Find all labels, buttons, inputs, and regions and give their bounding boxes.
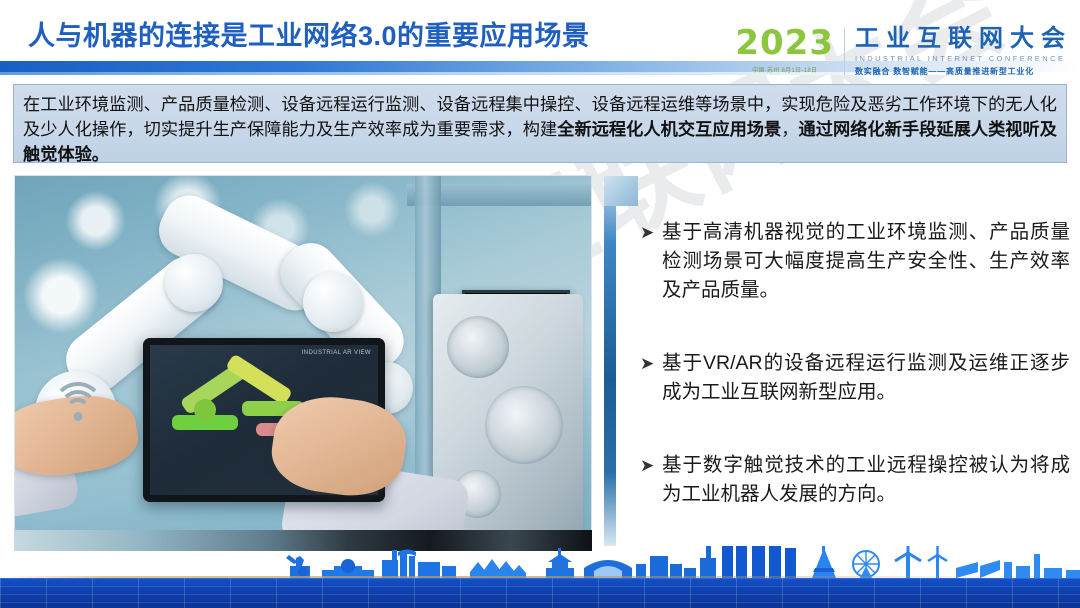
- footer-grid-overlay: [0, 578, 1080, 608]
- logo-name-en: INDUSTRIAL INTERNET CONFERENCE: [855, 54, 1072, 63]
- robot-arm-joint-elbow: [165, 254, 223, 312]
- vertical-accent-cap: [604, 176, 638, 206]
- list-item: ➤ 基于数字触觉技术的工业远程操控被认为将成为工业机器人发展的方向。: [640, 451, 1070, 509]
- intro-textbox: 在工业环境监测、产品质量检测、设备远程运行监测、设备远程集中操控、设备远程运维等…: [13, 84, 1067, 163]
- logo-divider: [844, 28, 845, 75]
- logo-year-sublabel: 中国·苏州 8月1日-18日: [752, 65, 817, 74]
- machine-fan-upper: [447, 316, 509, 378]
- city-skyline-icon: [0, 546, 1080, 578]
- wifi-icon: [45, 376, 111, 442]
- list-item: ➤ 基于VR/AR的设备远程运行监测及运维正逐步成为工业互联网新型应用。: [640, 349, 1070, 407]
- intro-paragraph: 在工业环境监测、产品质量检测、设备远程运行监测、设备远程集中操控、设备远程运维等…: [23, 92, 1057, 167]
- logo-year-group: 2023 中国·苏州 8月1日-18日: [735, 26, 844, 74]
- bullet-text: 基于高清机器视觉的工业环境监测、产品质量检测场景可大幅度提高生产安全性、生产效率…: [662, 218, 1070, 305]
- logo-name-cn: 工业互联网大会: [855, 26, 1072, 51]
- page-title: 人与机器的连接是工业网络3.0的重要应用场景: [28, 14, 590, 53]
- logo-year: 2023: [735, 26, 834, 60]
- intro-bold-1: 全新远程化人机交互应用场景: [557, 119, 781, 139]
- bullet-arrow-icon: ➤: [640, 451, 662, 509]
- logo-slogan: 数实融合 数智赋能——高质量推进新型工业化: [855, 66, 1072, 77]
- slide-root: 工业互联网大会 人与机器的连接是工业网络3.0的重要应用场景 2023 中国·苏…: [0, 0, 1080, 608]
- bullet-arrow-icon: ➤: [640, 349, 662, 407]
- robot-arm-joint-wrist: [303, 272, 363, 332]
- bullet-text: 基于VR/AR的设备远程运行监测及运维正逐步成为工业互联网新型应用。: [662, 349, 1070, 407]
- machine-fan-center: [485, 386, 563, 464]
- tablet-brand-label: INDUSTRIAL AR VIEW: [302, 350, 371, 356]
- bullet-arrow-icon: ➤: [640, 218, 662, 305]
- footer-band: [0, 546, 1080, 608]
- conference-logo: 2023 中国·苏州 8月1日-18日 工业互联网大会 INDUSTRIAL I…: [735, 26, 1072, 77]
- logo-name-group: 工业互联网大会 INDUSTRIAL INTERNET CONFERENCE 数…: [855, 26, 1072, 77]
- list-item: ➤ 基于高清机器视觉的工业环境监测、产品质量检测场景可大幅度提高生产安全性、生产…: [640, 218, 1070, 305]
- intro-part-2: ，: [781, 119, 798, 139]
- vertical-accent-bar: [604, 176, 616, 546]
- scene-photo: Automation Machine INDUSTRIAL AR VIEW: [14, 175, 592, 550]
- bullet-list: ➤ 基于高清机器视觉的工业环境监测、产品质量检测场景可大幅度提高生产安全性、生产…: [640, 218, 1070, 509]
- bullet-text: 基于数字触觉技术的工业远程操控被认为将成为工业机器人发展的方向。: [662, 451, 1070, 509]
